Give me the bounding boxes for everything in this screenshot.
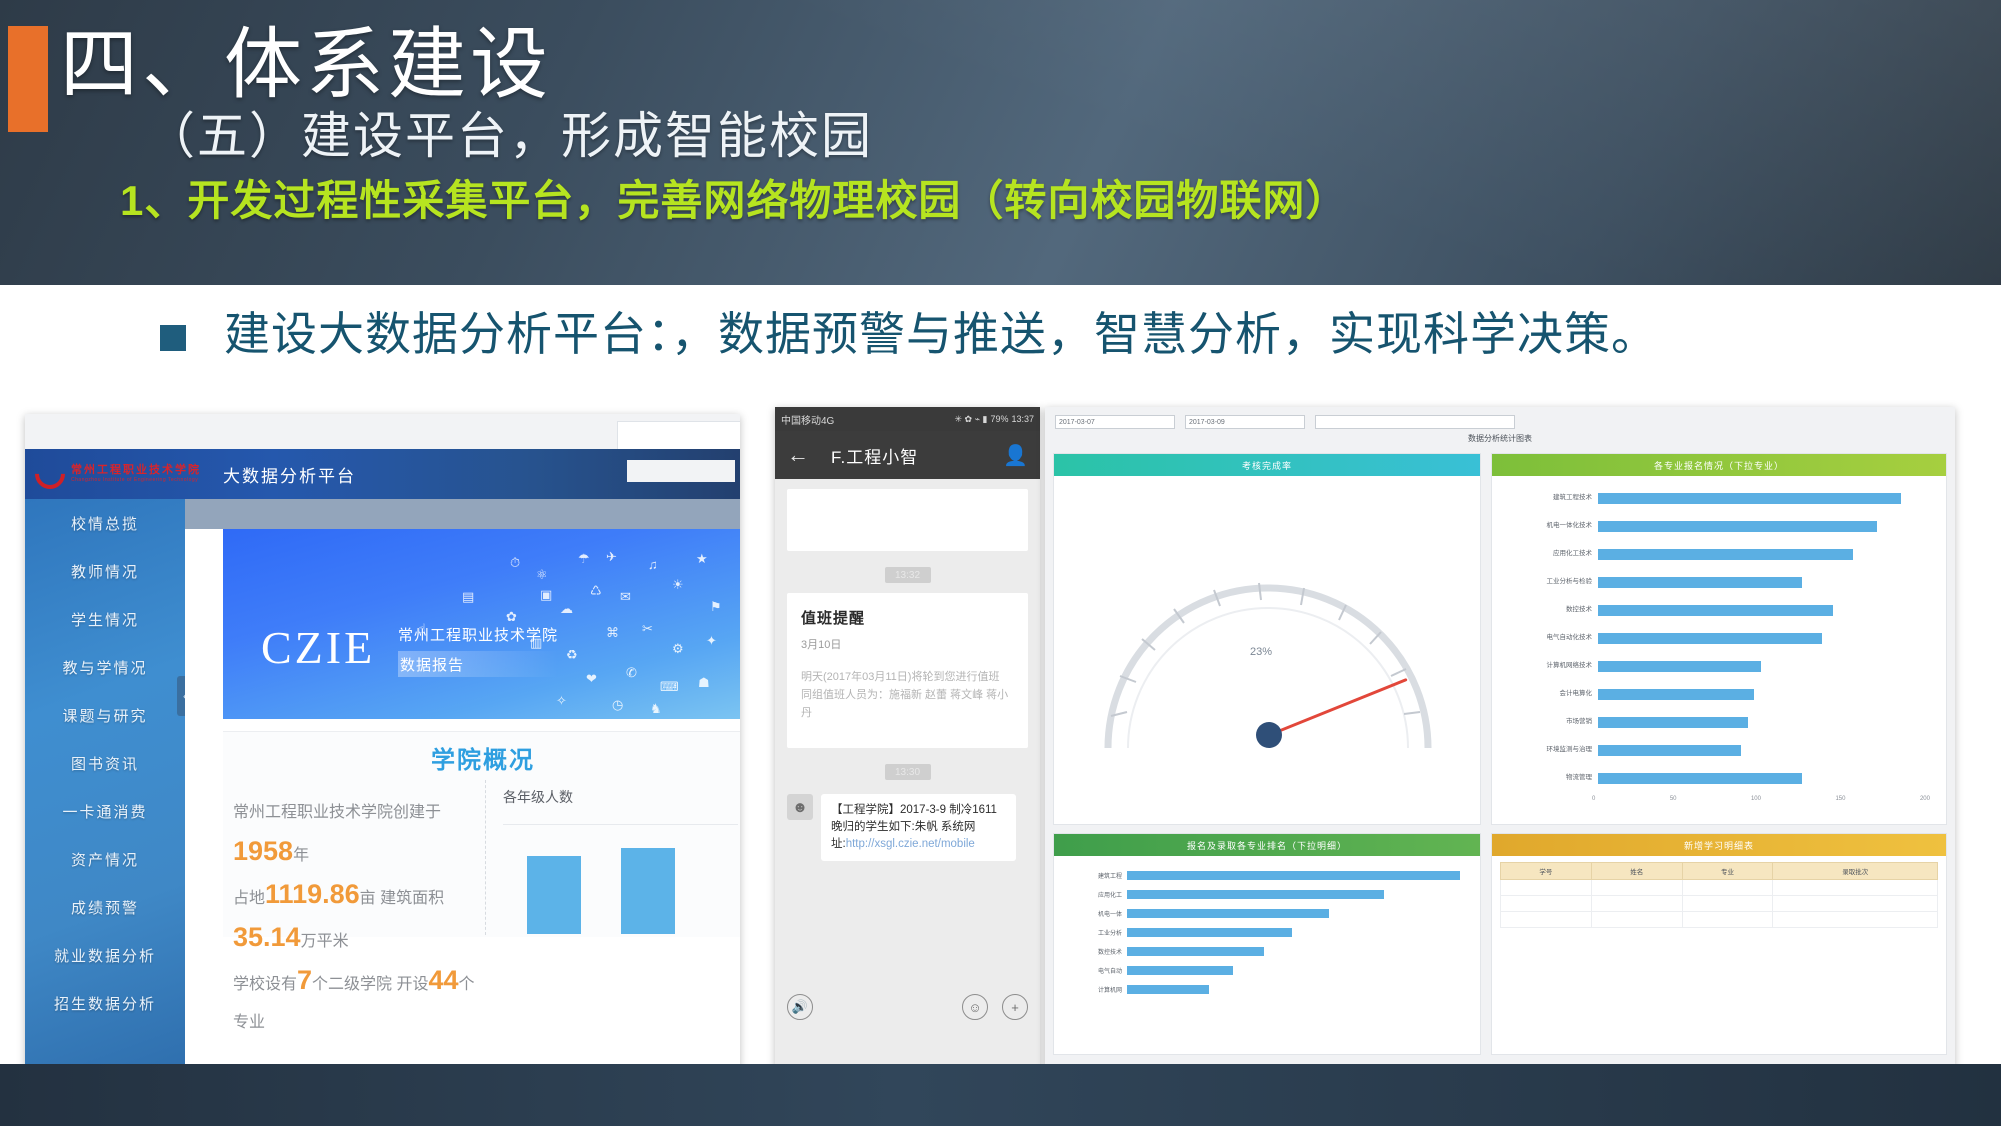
highlight-line: 1、开发过程性采集平台，完善网络物理校园（转向校园物联网） [120, 174, 1348, 228]
bars-bottom-card: 报名及录取各专业排名（下拉明细） 建筑工程 应用化工 机电一体 工业分析 数控技… [1053, 833, 1481, 1055]
table-row [1501, 880, 1938, 896]
report-banner: ☝▤ ✿▣ ⏱☂ ✈☁ ♺✉ ♫☀ ★⚑ ▥♻ ⌘✂ ⚙✦ ❤✆ ⌨☗ ✧◷ ♞… [223, 529, 740, 719]
bar-label: 应用化工技术 [1500, 550, 1598, 558]
bar-row: 数控技术 [1064, 942, 1470, 961]
bar-row: 环境监测与治理 [1500, 736, 1938, 764]
bar-row: 应用化工技术 [1500, 540, 1938, 568]
bar-fill [1598, 661, 1761, 672]
bar-label: 市场营销 [1500, 718, 1598, 726]
battery-label: 79% [990, 414, 1008, 424]
notice-line-1: 明天(2017年03月11日)将轮到您进行值班 [801, 668, 1014, 686]
bar-fill [1127, 966, 1233, 975]
bar-label: 机电一体 [1064, 909, 1127, 918]
timestamp-stamp-1: 13:32 [885, 567, 931, 583]
bar-fill [1598, 773, 1802, 784]
ov-l1-post: 年 [293, 847, 309, 864]
bar-row: 电气自动 [1064, 961, 1470, 980]
bar-row: 建筑工程 [1064, 866, 1470, 885]
notice-title: 值班提醒 [801, 607, 1014, 628]
notice-date: 3月10日 [801, 636, 1014, 652]
notice-body: 明天(2017年03月11日)将轮到您进行值班 同组值班人员为：施福新 赵蕾 蒋… [801, 668, 1014, 722]
phone-status-bar: 中国移动4G ✳ ✿ ⌁ ▮ 79% 13:37 [775, 407, 1040, 431]
overview-grade-chart [503, 824, 738, 934]
table-row [1501, 912, 1938, 928]
bar-label: 环境监测与治理 [1500, 746, 1598, 754]
slide-root: 四、体系建设 （五）建设平台，形成智能校园 1、开发过程性采集平台，完善网络物理… [0, 0, 2001, 1126]
status-icons-group: ✳ ✿ ⌁ ▮ 79% 13:37 [954, 414, 1034, 425]
timestamp-stamp-2: 13:30 [885, 764, 931, 780]
sidebar-item-6[interactable]: 一卡通消费 [25, 787, 185, 835]
gauge-card-title: 考核完成率 [1054, 454, 1480, 476]
bars-right-card: 各专业报名情况（下拉专业） 建筑工程技术 机电一体化技术 应用化工技术 工业分析… [1491, 453, 1947, 825]
bi-card-grid: 考核完成率 [1045, 447, 1955, 1059]
x-tick: 100 [1751, 796, 1761, 802]
dashboard-sidebar: 校情总揽 教师情况 学生情况 教与学情况 课题与研究 图书资讯 一卡通消费 资产… [25, 499, 185, 1069]
bar-label: 应用化工 [1064, 890, 1127, 899]
x-tick: 50 [1670, 796, 1677, 802]
bar-row: 计算机网络技术 [1500, 652, 1938, 680]
ov-l3-num2: 44 [429, 965, 459, 995]
bar-label: 会计电算化 [1500, 690, 1598, 698]
bars-right-chart: 建筑工程技术 机电一体化技术 应用化工技术 工业分析与检验 数控技术 电气自动化… [1492, 476, 1946, 806]
bar-fill [1127, 871, 1460, 880]
avatar: ☻ [787, 794, 813, 820]
overview-chart-label: 各年级人数 [503, 787, 573, 807]
sidebar-item-1[interactable]: 教师情况 [25, 547, 185, 595]
logo-crescent-icon [29, 453, 71, 495]
x-tick: 0 [1592, 796, 1595, 802]
bar-fill [1127, 947, 1264, 956]
bar-fill [1127, 890, 1384, 899]
bullet-row: 建设大数据分析平台：，数据预警与推送，智慧分析，实现科学决策。 [160, 303, 1658, 365]
gauge-hub [1256, 722, 1282, 748]
bar-fill [1127, 985, 1209, 994]
ov-l1-num: 1958 [233, 836, 293, 866]
bar-row: 数控技术 [1500, 596, 1938, 624]
table-card: 新增学习明细表 学号 姓名 专业 录取批次 [1491, 833, 1947, 1055]
search-input[interactable] [617, 421, 740, 451]
bars-right-axis: 0 50 100 150 200 [1500, 792, 1938, 806]
sidebar-item-3[interactable]: 教与学情况 [25, 643, 185, 691]
logo-en-text: Changzhou Institute of Engineering Techn… [71, 478, 201, 483]
voice-icon[interactable]: 🔊 [787, 994, 813, 1020]
table-col-0: 学号 [1501, 863, 1592, 880]
message-bubble[interactable]: 【工程学院】2017-3-9 制冷1611 晚归的学生如下:朱帆 系统网址:ht… [821, 794, 1016, 861]
person-icon[interactable]: 👤 [1003, 443, 1028, 468]
carrier-label: 中国移动4G [781, 412, 834, 427]
message-link[interactable]: http://xsgl.czie.net/mobile [846, 838, 975, 850]
bar-label: 物流管理 [1500, 774, 1598, 782]
bar-row: 市场营销 [1500, 708, 1938, 736]
bar-fill [1127, 928, 1292, 937]
grade-bar-2 [621, 848, 675, 934]
header-field[interactable] [627, 460, 735, 482]
sidebar-item-9[interactable]: 就业数据分析 [25, 931, 185, 979]
bar-row: 应用化工 [1064, 885, 1470, 904]
overview-stats: 常州工程职业技术学院创建于1958年 占地1119.86亩 建筑面积35.14万… [233, 794, 478, 1042]
emoji-icon[interactable]: ☺ [962, 994, 988, 1020]
bar-label: 电气自动化技术 [1500, 634, 1598, 642]
bar-fill [1598, 577, 1802, 588]
table-col-1: 姓名 [1591, 863, 1682, 880]
bar-row: 机电一体 [1064, 904, 1470, 923]
czie-logo-text: CZIE [261, 625, 375, 671]
bullet-square-icon [160, 325, 186, 351]
bi-caption: 数据分析统计图表 [1045, 433, 1955, 447]
bullet-text: 建设大数据分析平台：，数据预警与推送，智慧分析，实现科学决策。 [224, 303, 1658, 365]
overview-section: 学院概况 常州工程职业技术学院创建于1958年 占地1119.86亩 建筑面积3… [223, 731, 740, 937]
status-icons: ✳ ✿ ⌁ ▮ [954, 414, 987, 425]
table-card-title: 新增学习明细表 [1492, 834, 1946, 856]
gauge-chart: 23% [1054, 476, 1482, 824]
notice-line-2: 同组值班人员为：施福新 赵蕾 蒋文峰 蒋小丹 [801, 686, 1014, 722]
bar-label: 建筑工程 [1064, 871, 1127, 880]
screenshot-row: 常州工程职业技术学院 Changzhou Institute of Engine… [0, 407, 2001, 1057]
ov-l2-pre: 占地 [233, 890, 265, 907]
bar-label: 计算机网络技术 [1500, 662, 1598, 670]
bar-fill [1598, 521, 1877, 532]
chat-body: 13:32 值班提醒 3月10日 明天(2017年03月11日)将轮到您进行值班… [775, 489, 1040, 1029]
overview-line-1: 常州工程职业技术学院创建于1958年 [233, 794, 478, 875]
ov-l3-pre: 学校设有 [233, 976, 297, 993]
orange-accent-bar [8, 26, 48, 132]
ov-l2-num2: 35.14 [233, 922, 301, 952]
bar-label: 计算机网 [1064, 985, 1127, 994]
sidebar-item-7[interactable]: 资产情况 [25, 835, 185, 883]
bar-fill [1598, 717, 1748, 728]
sidebar-item-5[interactable]: 图书资讯 [25, 739, 185, 787]
gauge-card: 考核完成率 [1053, 453, 1481, 825]
x-tick: 150 [1835, 796, 1845, 802]
data-table: 学号 姓名 专业 录取批次 [1500, 862, 1938, 928]
page-title: 四、体系建设 [60, 12, 552, 116]
bi-dashboard-screenshot: 2017-03-07 2017-03-09 数据分析统计图表 考核完成率 [1045, 407, 1955, 1069]
bar-row: 工业分析 [1064, 923, 1470, 942]
bar-row: 工业分析与检验 [1500, 568, 1938, 596]
sidebar-item-2[interactable]: 学生情况 [25, 595, 185, 643]
overview-line-2: 占地1119.86亩 建筑面积35.14万平米 [233, 875, 478, 961]
table-wrap: 学号 姓名 专业 录取批次 [1492, 856, 1946, 934]
bar-row: 会计电算化 [1500, 680, 1938, 708]
logo-cn-text: 常州工程职业技术学院 [71, 465, 201, 476]
bi-toolbar: 2017-03-07 2017-03-09 [1045, 407, 1955, 433]
title-band: 四、体系建设 （五）建设平台，形成智能校园 1、开发过程性采集平台，完善网络物理… [0, 0, 2001, 285]
slide-footer [0, 1064, 2001, 1126]
phone-app-bar: ← F.工程小智 👤 [775, 431, 1040, 479]
ov-l1-pre: 常州工程职业技术学院创建于 [233, 804, 441, 821]
overview-divider [485, 780, 486, 935]
bar-fill [1598, 549, 1853, 560]
bar-fill [1127, 909, 1329, 918]
overview-line-3: 学校设有7个二级学院 开设44个专业 [233, 961, 478, 1042]
chat-card-blank [787, 489, 1028, 551]
bar-label: 数控技术 [1500, 606, 1598, 614]
bar-row: 物流管理 [1500, 764, 1938, 792]
dashboard-top-strip [25, 414, 740, 449]
ov-l3-num: 7 [297, 965, 312, 995]
bar-row: 建筑工程技术 [1500, 484, 1938, 512]
back-arrow-icon[interactable]: ← [787, 442, 809, 468]
bars-right-title: 各专业报名情况（下拉专业） [1492, 454, 1946, 476]
bar-row: 机电一体化技术 [1500, 512, 1938, 540]
table-col-3: 录取批次 [1773, 863, 1938, 880]
table-row [1501, 896, 1938, 912]
date-select-2[interactable]: 2017-03-09 [1185, 415, 1305, 429]
banner-report-label: 数据报告 [398, 651, 558, 677]
bar-fill [1598, 633, 1822, 644]
bullet-band: 建设大数据分析平台：，数据预警与推送，智慧分析，实现科学决策。 [0, 285, 2001, 407]
plus-icon[interactable]: + [1002, 994, 1028, 1020]
x-tick: 200 [1920, 796, 1930, 802]
content-scroll-strip[interactable] [185, 499, 740, 529]
sidebar-item-4[interactable]: 课题与研究 [25, 691, 185, 739]
clock-label: 13:37 [1011, 414, 1034, 424]
bar-fill [1598, 689, 1754, 700]
bar-label: 工业分析 [1064, 928, 1127, 937]
ov-l2-mid: 亩 建筑面积 [360, 890, 444, 907]
dashboard-main: ☝▤ ✿▣ ⏱☂ ✈☁ ♺✉ ♫☀ ★⚑ ▥♻ ⌘✂ ⚙✦ ❤✆ ⌨☗ ✧◷ ♞… [185, 499, 740, 1069]
school-logo: 常州工程职业技术学院 Changzhou Institute of Engine… [35, 459, 201, 489]
table-header-row: 学号 姓名 专业 录取批次 [1501, 863, 1938, 880]
ov-l2-num: 1119.86 [265, 879, 360, 909]
bar-label: 工业分析与检验 [1500, 578, 1598, 586]
sidebar-item-10[interactable]: 招生数据分析 [25, 979, 185, 1027]
bar-row: 计算机网 [1064, 980, 1470, 999]
ov-l3-mid: 个二级学院 开设 [312, 976, 428, 993]
bar-label: 数控技术 [1064, 947, 1127, 956]
phone-screenshot: 中国移动4G ✳ ✿ ⌁ ▮ 79% 13:37 ← F.工程小智 👤 13:3… [775, 407, 1040, 1069]
chat-input-bar: 🔊 ☺ + [775, 985, 1040, 1029]
dashboard-title: 大数据分析平台 [223, 462, 356, 487]
sidebar-item-8[interactable]: 成绩预警 [25, 883, 185, 931]
bar-label: 建筑工程技术 [1500, 494, 1598, 502]
date-select-1[interactable]: 2017-03-07 [1055, 415, 1175, 429]
page-subtitle: （五）建设平台，形成智能校园 [145, 105, 873, 167]
ov-l2-post: 万平米 [301, 933, 349, 950]
bar-fill [1598, 493, 1901, 504]
gauge-value: 23% [1250, 646, 1272, 658]
banner-school-name: 常州工程职业技术学院 [398, 624, 558, 645]
bars-bottom-chart: 建筑工程 应用化工 机电一体 工业分析 数控技术 电气自动 计算机网 [1054, 856, 1480, 999]
notice-card[interactable]: 值班提醒 3月10日 明天(2017年03月11日)将轮到您进行值班 同组值班人… [787, 593, 1028, 748]
bar-fill [1598, 745, 1741, 756]
overview-title: 学院概况 [431, 740, 535, 775]
bar-fill [1598, 605, 1833, 616]
grade-bar-1 [527, 856, 581, 934]
sidebar-item-0[interactable]: 校情总揽 [25, 499, 185, 547]
chat-title: F.工程小智 [831, 443, 918, 468]
dashboard-screenshot: 常州工程职业技术学院 Changzhou Institute of Engine… [25, 414, 740, 1069]
chat-message-row: ☻ 【工程学院】2017-3-9 制冷1611 晚归的学生如下:朱帆 系统网址:… [787, 794, 1028, 861]
bar-row: 电气自动化技术 [1500, 624, 1938, 652]
filter-select[interactable] [1315, 415, 1515, 429]
bar-label: 机电一体化技术 [1500, 522, 1598, 530]
bars-bottom-title: 报名及录取各专业排名（下拉明细） [1054, 834, 1480, 856]
table-col-2: 专业 [1682, 863, 1773, 880]
bar-label: 电气自动 [1064, 966, 1127, 975]
